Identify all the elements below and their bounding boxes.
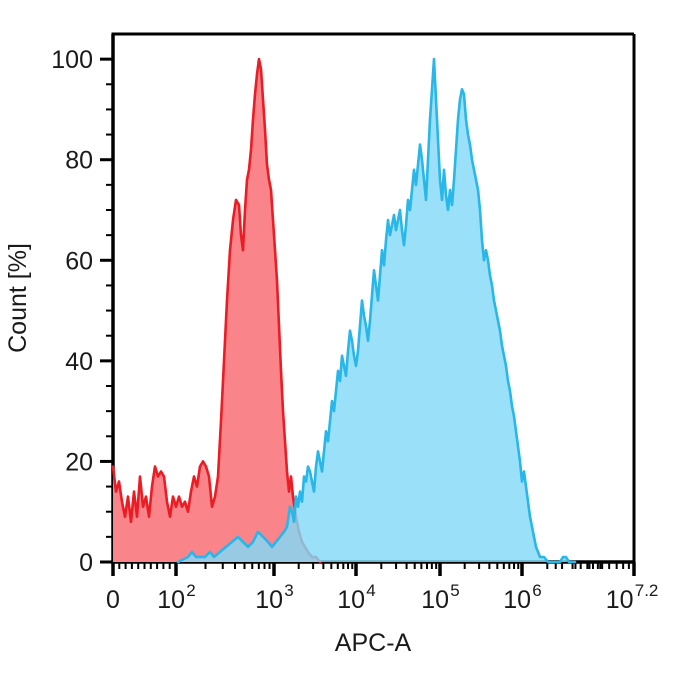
y-tick-label: 100 [51,46,93,74]
x-tick-label-exponent: 4 [366,581,375,600]
x-tick-label-base: 0 [106,586,120,614]
y-tick-label: 0 [79,549,93,577]
y-tick-label: 20 [65,448,93,476]
y-axis-title: Count [%] [4,243,32,353]
x-tick-label: 107.2 [606,581,659,614]
x-axis-ticks [113,562,634,576]
y-tick-label: 60 [65,247,93,275]
x-tick-label-exponent: 5 [450,581,459,600]
y-axis-ticks [100,59,113,562]
figure-canvas: 0102103104105106107.2 020406080100 APC-A… [0,0,677,677]
x-tick-label-exponent: 6 [532,581,541,600]
x-tick-label: 105 [421,581,459,614]
x-tick-label: 104 [337,581,375,614]
y-axis-tick-labels: 020406080100 [51,46,93,577]
x-tick-label-base: 10 [421,586,449,614]
x-tick-label-exponent: 2 [186,581,195,600]
x-axis-tick-labels: 0102103104105106107.2 [106,581,658,614]
x-tick-label-exponent: 7.2 [635,581,659,600]
x-tick-label-base: 10 [255,586,283,614]
y-tick-label: 40 [65,348,93,376]
x-tick-label: 103 [255,581,293,614]
x-tick-label-exponent: 3 [284,581,293,600]
x-tick-label: 106 [503,581,541,614]
series-unstained-control-line [113,59,320,562]
x-tick-label: 0 [106,586,120,614]
x-tick-label-base: 10 [503,586,531,614]
x-tick-label-base: 10 [606,586,634,614]
x-tick-label-base: 10 [157,586,185,614]
series-layer [113,59,575,562]
x-axis-title: APC-A [335,629,412,657]
y-tick-label: 80 [65,147,93,175]
x-tick-label: 102 [157,581,195,614]
x-tick-label-base: 10 [337,586,365,614]
histogram-plot: 0102103104105106107.2 020406080100 APC-A… [0,0,677,677]
